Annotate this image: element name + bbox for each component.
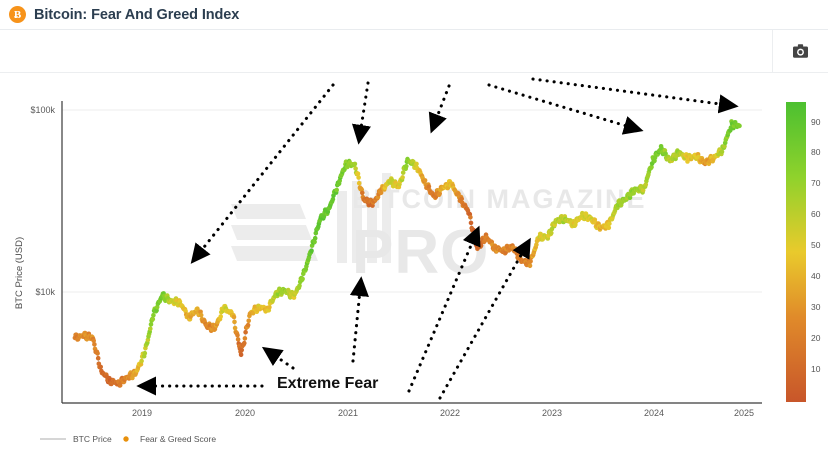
data-point[interactable]: [151, 313, 156, 318]
data-point[interactable]: [143, 351, 148, 356]
data-point[interactable]: [459, 197, 464, 202]
page-title: Bitcoin: Fear And Greed Index: [34, 7, 239, 23]
annotation-extreme-greed: Extreme Greed: [362, 73, 476, 74]
cb-tick-20: 20: [811, 333, 821, 343]
data-point[interactable]: [246, 319, 251, 324]
cb-tick-60: 60: [811, 209, 821, 219]
data-point[interactable]: [379, 191, 384, 196]
data-point[interactable]: [98, 365, 103, 370]
annotation-arrows: [140, 79, 735, 398]
data-point[interactable]: [235, 333, 240, 338]
data-point[interactable]: [233, 326, 238, 331]
cb-tick-80: 80: [811, 147, 821, 157]
x-tick-2020: 2020: [235, 408, 255, 418]
data-point[interactable]: [300, 277, 305, 282]
data-point[interactable]: [239, 353, 244, 358]
data-point[interactable]: [236, 337, 241, 342]
colorbar-gradient: [786, 102, 806, 402]
chart-plot[interactable]: $100k $10k BTC Price (USD) 2019 2020 202…: [0, 73, 828, 466]
cb-tick-70: 70: [811, 178, 821, 188]
data-point[interactable]: [353, 162, 358, 167]
y-tick-10k: $10k: [35, 287, 55, 297]
data-point[interactable]: [309, 249, 314, 254]
cb-tick-40: 40: [811, 271, 821, 281]
annotation-extreme-fear: Extreme Fear: [277, 375, 378, 392]
data-point[interactable]: [514, 247, 519, 252]
camera-icon[interactable]: [772, 30, 828, 72]
fear-arrow-4: [409, 229, 478, 391]
legend-label-fear-greed: Fear & Greed Score: [140, 434, 216, 444]
legend-label-btc-price: BTC Price: [73, 434, 112, 444]
x-axis-ticks: 2019 2020 2021 2022 2023 2024 2025: [132, 408, 754, 418]
fear-greed-scatter[interactable]: [73, 119, 742, 388]
data-point[interactable]: [95, 351, 100, 356]
data-point[interactable]: [414, 162, 419, 167]
data-point[interactable]: [313, 236, 318, 241]
data-point[interactable]: [218, 314, 223, 319]
greed-arrow-5: [533, 79, 735, 106]
colorbar[interactable]: 90 80 70 60 50 40 30 20 10: [786, 102, 821, 402]
data-point[interactable]: [356, 175, 361, 180]
data-point[interactable]: [549, 231, 554, 236]
x-tick-2022: 2022: [440, 408, 460, 418]
data-point[interactable]: [297, 284, 302, 289]
fear-arrow-5: [440, 241, 529, 398]
data-point[interactable]: [353, 166, 358, 171]
data-point[interactable]: [401, 170, 406, 175]
chart-container[interactable]: BITCOIN MAGAZINE PRO: [0, 73, 828, 466]
data-point[interactable]: [357, 181, 362, 186]
data-point[interactable]: [148, 327, 153, 332]
x-tick-2023: 2023: [542, 408, 562, 418]
page-header: Ƀ Bitcoin: Fear And Greed Index: [0, 0, 828, 30]
data-point[interactable]: [139, 359, 144, 364]
data-point[interactable]: [151, 317, 156, 322]
cb-tick-30: 30: [811, 302, 821, 312]
y-tick-100k: $100k: [30, 105, 55, 115]
data-point[interactable]: [469, 221, 474, 226]
camera-glyph: [793, 44, 808, 58]
legend-marker-dot: [123, 436, 128, 441]
colorbar-ticks: 90 80 70 60 50 40 30 20 10: [811, 117, 821, 374]
data-point[interactable]: [242, 341, 247, 346]
bitcoin-logo-icon: Ƀ: [9, 6, 26, 23]
greed-arrow-3: [432, 86, 449, 130]
data-point[interactable]: [360, 191, 365, 196]
greed-arrow-1: [193, 85, 333, 261]
data-point[interactable]: [267, 305, 272, 310]
gridlines: [62, 110, 762, 292]
data-point[interactable]: [232, 315, 237, 320]
x-tick-2025: 2025: [734, 408, 754, 418]
cb-tick-90: 90: [811, 117, 821, 127]
fear-arrow-2: [265, 349, 293, 368]
data-point[interactable]: [246, 323, 251, 328]
y-axis-title: BTC Price (USD): [14, 237, 25, 309]
data-point[interactable]: [528, 264, 533, 269]
y-axis-ticks: $100k $10k: [30, 105, 55, 297]
data-point[interactable]: [423, 178, 428, 183]
data-point[interactable]: [334, 188, 339, 193]
data-point[interactable]: [96, 356, 101, 361]
greed-arrow-2: [359, 83, 368, 141]
x-tick-2019: 2019: [132, 408, 152, 418]
x-tick-2021: 2021: [338, 408, 358, 418]
data-point[interactable]: [720, 149, 725, 154]
data-point[interactable]: [607, 226, 612, 231]
data-point[interactable]: [404, 164, 409, 169]
data-point[interactable]: [232, 320, 237, 325]
data-point[interactable]: [400, 175, 405, 180]
data-point[interactable]: [243, 336, 248, 341]
data-point[interactable]: [239, 348, 244, 353]
cb-tick-50: 50: [811, 240, 821, 250]
data-point[interactable]: [199, 313, 204, 318]
data-point[interactable]: [468, 215, 473, 220]
axes: [62, 101, 762, 403]
data-point[interactable]: [243, 330, 248, 335]
chart-legend[interactable]: BTC Price Fear & Greed Score: [40, 434, 216, 444]
data-point[interactable]: [92, 342, 97, 347]
data-point[interactable]: [737, 124, 742, 129]
cb-tick-10: 10: [811, 364, 821, 374]
chart-toolbar: [0, 30, 828, 73]
x-tick-2024: 2024: [644, 408, 664, 418]
